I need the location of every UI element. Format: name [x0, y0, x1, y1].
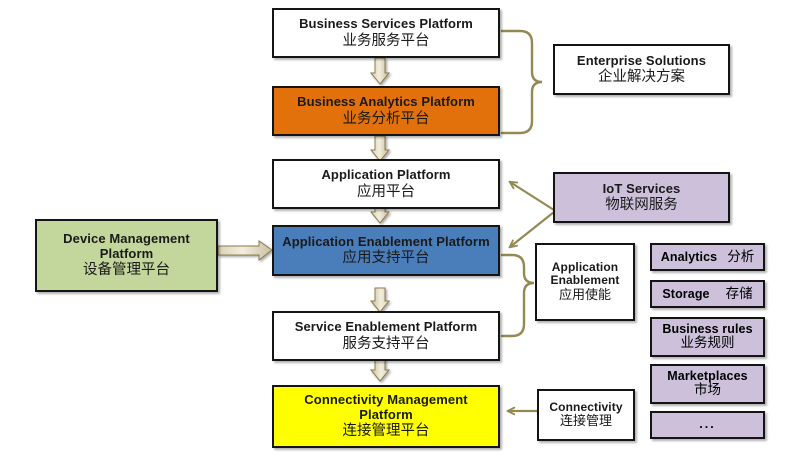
arrow-iot-to-aep: [510, 212, 554, 247]
box-connectivity-management-platform[interactable]: Connectivity Management Platform 连接管理平台: [272, 385, 500, 448]
bracket-enterprise-solutions: [502, 31, 542, 133]
box-title-zh: 设备管理平台: [83, 262, 170, 278]
box-title-zh: 物联网服务: [605, 197, 678, 213]
box-title-zh: 业务分析平台: [343, 111, 430, 127]
chip-label-en: ...: [699, 418, 715, 432]
box-title-zh: 业务服务平台: [343, 33, 430, 49]
chip-label-en: Business rules: [662, 323, 752, 337]
box-title-en: Application Enablement Platform: [282, 235, 490, 250]
box-title-en-line2: Platform: [100, 247, 154, 262]
box-application-enablement[interactable]: Application Enablement 应用使能: [535, 243, 635, 321]
box-enterprise-solutions[interactable]: Enterprise Solutions 企业解决方案: [553, 44, 730, 95]
block-arrow-up-sep-to-aep: [371, 288, 389, 312]
block-arrow-right-dmp-to-aep: [218, 241, 272, 260]
box-device-management-platform[interactable]: Device Management Platform 设备管理平台: [35, 219, 218, 292]
box-iot-services[interactable]: IoT Services 物联网服务: [553, 172, 730, 223]
chip-business-rules[interactable]: Business rules 业务规则: [650, 317, 765, 357]
bracket-application-enablement: [502, 255, 534, 336]
chip-analytics[interactable]: Analytics 分析: [650, 243, 765, 271]
block-arrow-up-bap-to-bsp: [371, 58, 389, 84]
chip-label-en: Analytics: [661, 251, 717, 265]
box-title-zh: 服务支持平台: [343, 336, 430, 352]
chip-label-zh: 分析: [727, 250, 754, 265]
chip-label-zh: 市场: [694, 383, 721, 398]
box-connectivity[interactable]: Connectivity 连接管理: [537, 389, 635, 441]
box-title-en-line1: Application: [552, 261, 618, 274]
box-application-enablement-platform[interactable]: Application Enablement Platform 应用支持平台: [272, 225, 500, 276]
box-title-zh: 企业解决方案: [598, 69, 685, 85]
box-title-zh: 连接管理: [560, 415, 612, 430]
block-arrow-up-ap-to-bap: [371, 136, 389, 161]
diagram-canvas: Business Services Platform 业务服务平台 Busine…: [0, 0, 796, 456]
box-title-en: Application Platform: [321, 168, 450, 183]
box-title-en: Connectivity: [549, 401, 622, 414]
box-business-services-platform[interactable]: Business Services Platform 业务服务平台: [272, 8, 500, 58]
box-service-enablement-platform[interactable]: Service Enablement Platform 服务支持平台: [272, 311, 500, 361]
chip-label-zh: 业务规则: [681, 336, 735, 351]
arrow-iot-to-application-platform: [510, 182, 554, 210]
box-title-en: Business Analytics Platform: [297, 95, 475, 110]
chip-marketplaces[interactable]: Marketplaces 市场: [650, 364, 765, 404]
chip-label-zh: 存储: [726, 287, 753, 302]
chip-label-en: Storage: [662, 288, 709, 302]
box-title-en: Enterprise Solutions: [577, 54, 706, 69]
box-title-en: Service Enablement Platform: [295, 320, 478, 335]
box-title-en-line2: Enablement: [550, 274, 619, 287]
box-title-en: IoT Services: [603, 182, 681, 197]
box-title-zh: 连接管理平台: [343, 423, 430, 439]
box-title-zh: 应用平台: [357, 184, 415, 200]
chip-more[interactable]: ...: [650, 411, 765, 439]
box-title-en: Business Services Platform: [299, 17, 473, 32]
box-business-analytics-platform[interactable]: Business Analytics Platform 业务分析平台: [272, 86, 500, 136]
box-title-zh: 应用使能: [559, 289, 611, 304]
box-title-en-line1: Device Management: [63, 232, 190, 247]
chip-storage[interactable]: Storage 存储: [650, 280, 765, 308]
box-title-en: Connectivity Management Platform: [286, 393, 486, 422]
box-title-zh: 应用支持平台: [343, 250, 430, 266]
box-application-platform[interactable]: Application Platform 应用平台: [272, 159, 500, 209]
